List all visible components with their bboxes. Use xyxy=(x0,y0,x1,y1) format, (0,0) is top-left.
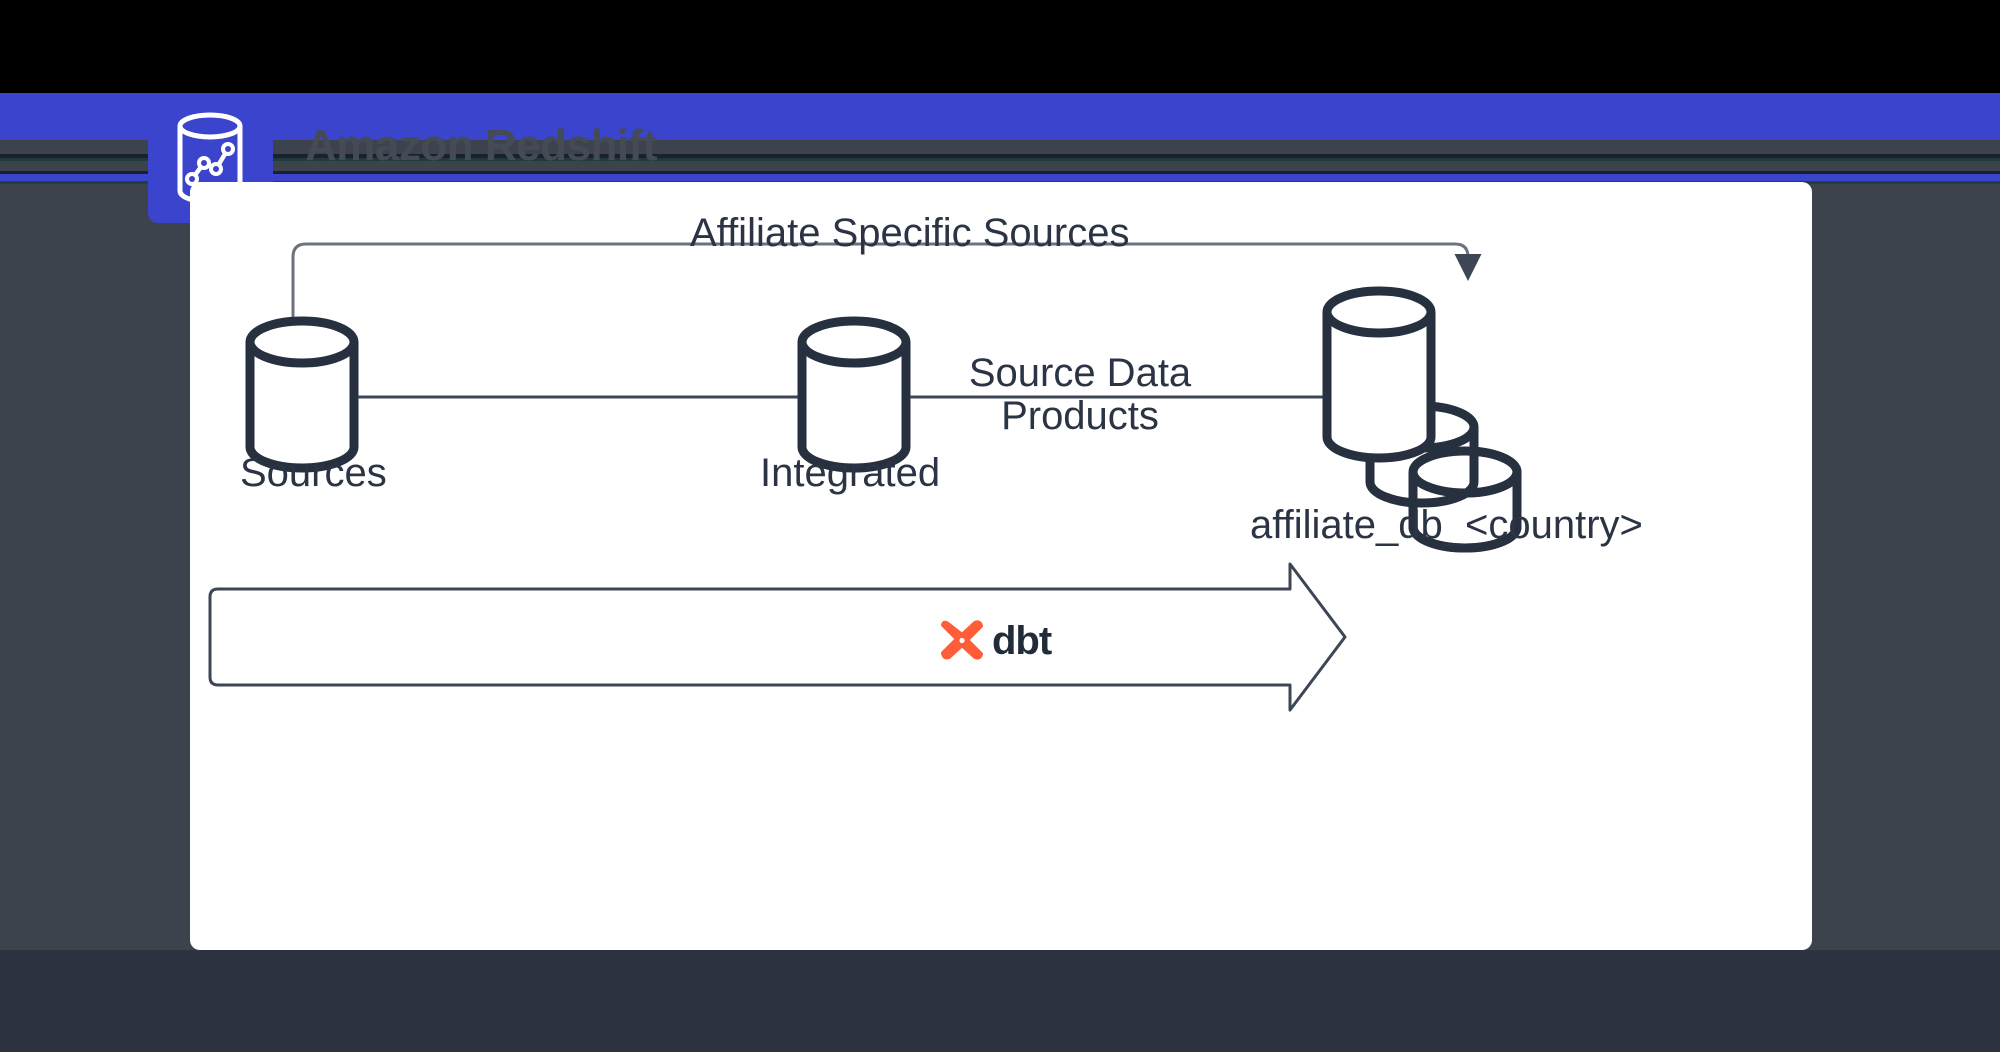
edge-label-source-data-products: Source Data Products xyxy=(950,352,1210,438)
node-label-integrated: Integrated xyxy=(760,452,940,495)
architecture-diagram xyxy=(190,182,1812,950)
background-band-accent-2 xyxy=(0,174,2000,181)
edge-label-line-1: Source Data xyxy=(950,352,1210,395)
dbt-wordmark: dbt xyxy=(992,621,1051,661)
diagram-card: Affiliate Specific Sources Sources Integ… xyxy=(190,182,1812,950)
node-sources xyxy=(250,321,354,468)
edge-label-line-2: Products xyxy=(950,395,1210,438)
dbt-pipeline-arrow xyxy=(210,564,1345,710)
screenshot-root: Amazon Redshift xyxy=(0,0,2000,1052)
dbt-logo: dbt xyxy=(940,619,1051,663)
background-band-accent xyxy=(0,93,2000,140)
background-band-gray-1 xyxy=(0,140,2000,154)
node-integrated xyxy=(802,321,906,468)
edge-label-affiliate-specific-sources: Affiliate Specific Sources xyxy=(690,212,1129,255)
node-label-affiliate-db: affiliate_db_<country> xyxy=(1250,504,1643,547)
background-band-gray-2 xyxy=(0,161,2000,171)
dbt-x-mark-icon xyxy=(940,619,984,663)
background-band-top xyxy=(0,0,2000,93)
service-title: Amazon Redshift xyxy=(305,124,657,168)
node-label-sources: Sources xyxy=(240,452,387,495)
background-panel-lower xyxy=(0,950,2000,1052)
